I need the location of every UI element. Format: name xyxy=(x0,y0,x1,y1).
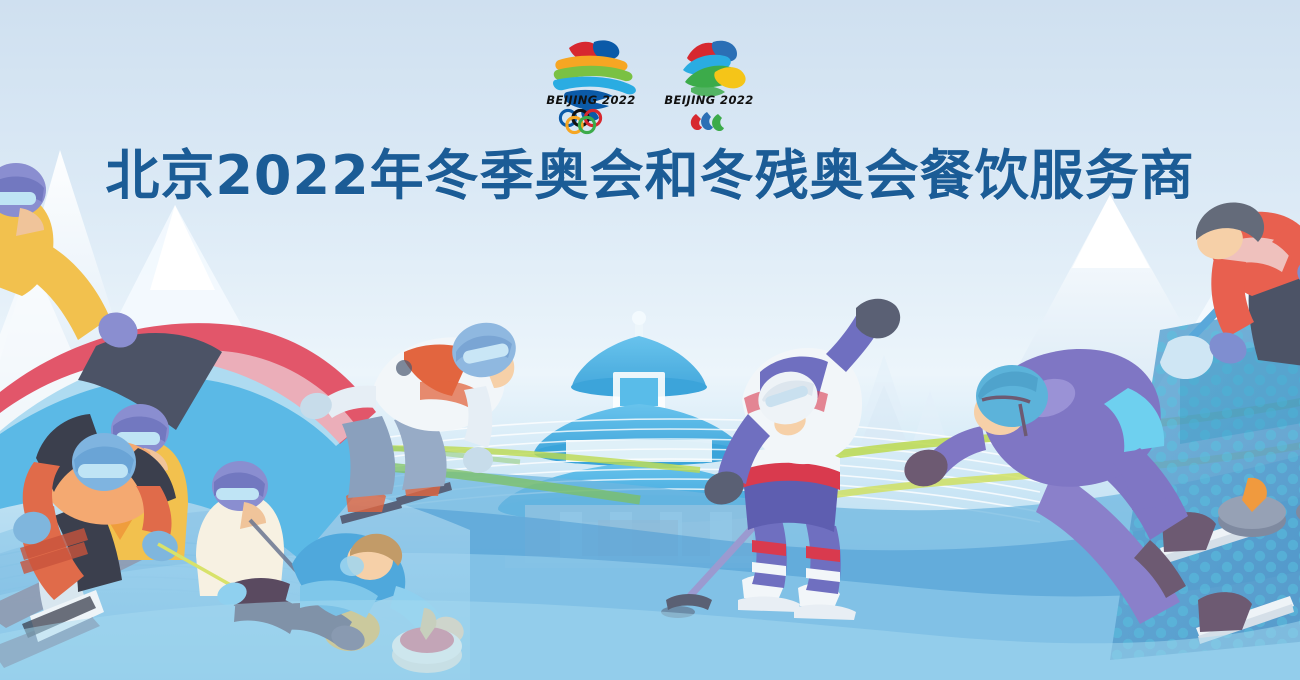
paralympic-wordmark: BEIJING 2022 xyxy=(664,93,753,107)
beijing-2022-olympic-emblem-icon: BEIJING 2022 xyxy=(539,30,643,136)
page-title: 北京2022年冬季奥会和冬残奥会餐饮服务商 xyxy=(0,148,1300,205)
beijing-2022-banner: BEIJING 2022 xyxy=(0,0,1300,680)
beijing-2022-paralympic-emblem-icon: BEIJING 2022 xyxy=(657,30,761,136)
paralympic-emblem: BEIJING 2022 xyxy=(657,30,761,136)
olympic-wordmark: BEIJING 2022 xyxy=(546,93,635,107)
emblem-group: BEIJING 2022 xyxy=(0,30,1300,136)
olympic-emblem: BEIJING 2022 xyxy=(539,30,643,136)
paralympic-agitos-icon xyxy=(691,112,724,131)
title-container: 北京2022年冬季奥会和冬残奥会餐饮服务商 xyxy=(0,148,1300,205)
